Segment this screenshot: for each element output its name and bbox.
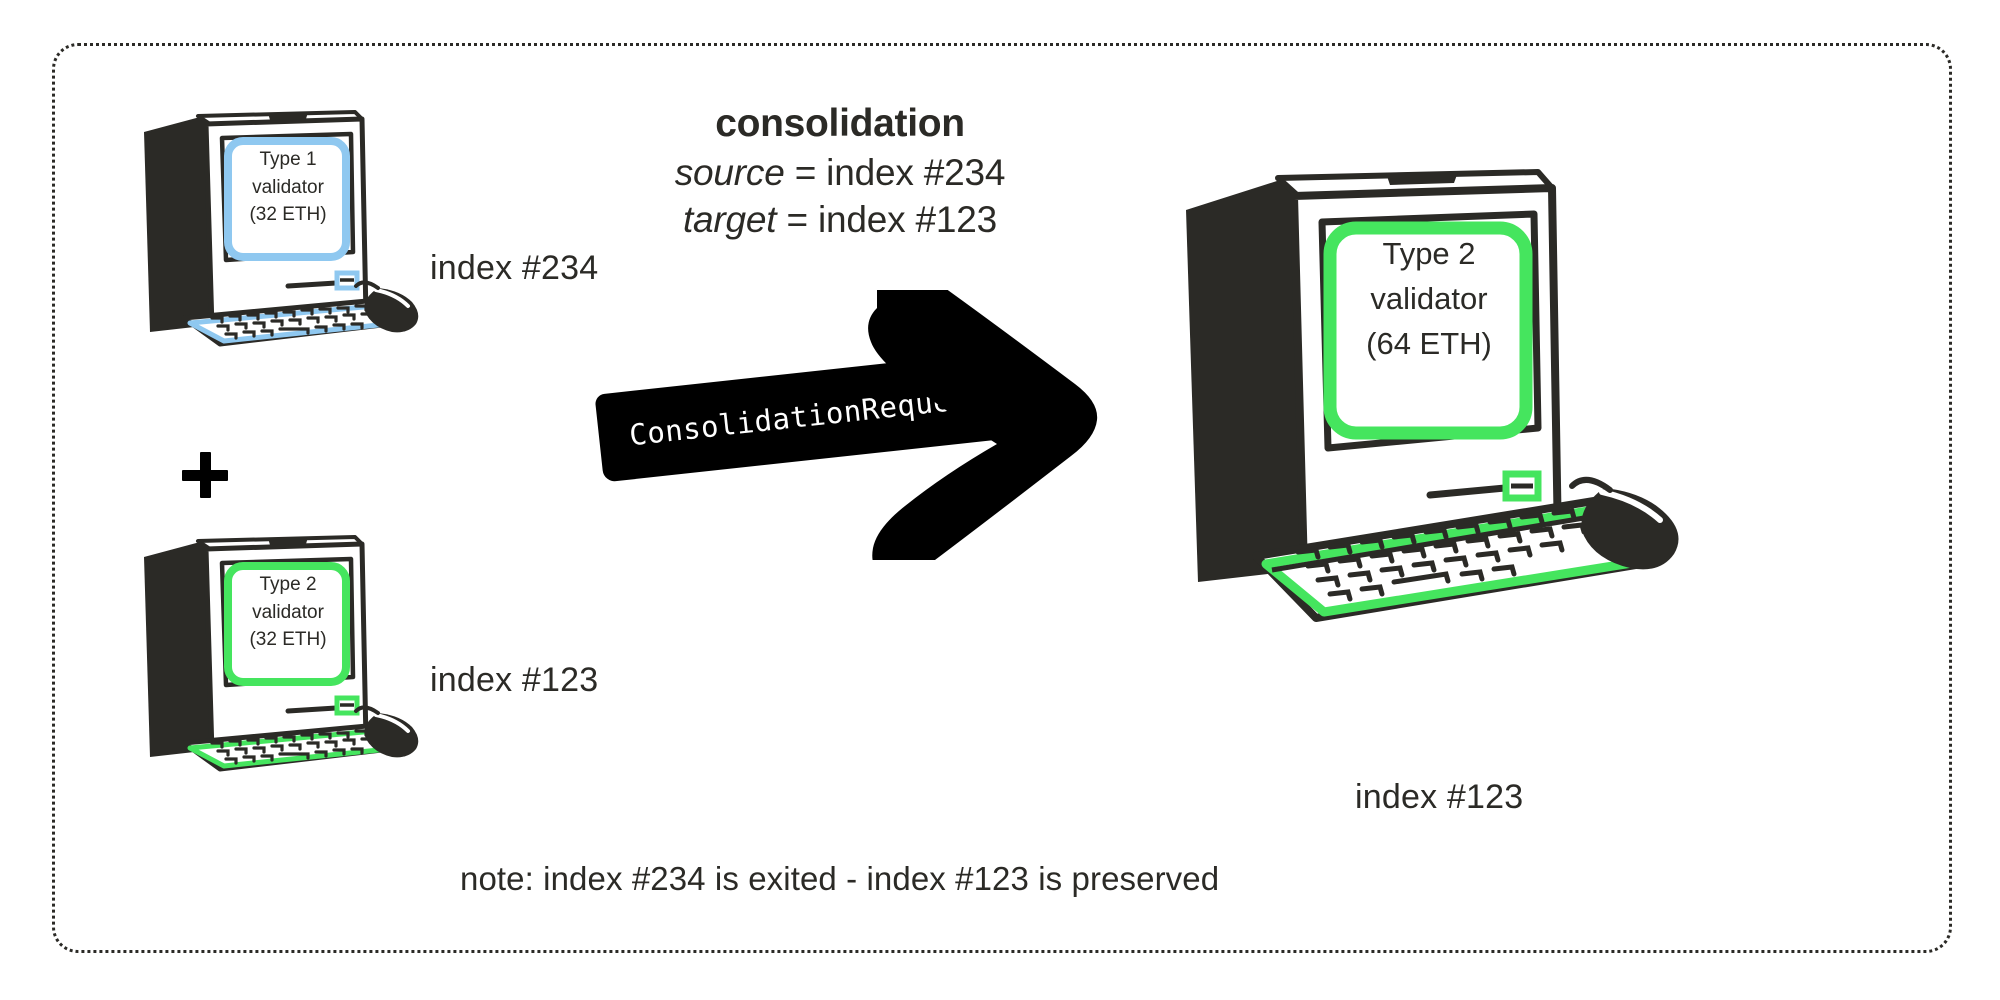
plus-icon: [182, 452, 228, 498]
screen-line-2: validator: [227, 599, 349, 627]
screen-line-3: (32 ETH): [227, 201, 349, 229]
source-value: = index #234: [785, 152, 1006, 193]
consolidation-arrow-icon: [855, 290, 1145, 560]
arrow-shape: [855, 290, 1145, 560]
screen-label: Type 2 validator (64 ETH): [1332, 232, 1526, 367]
screen-label: Type 1 validator (32 ETH): [227, 146, 349, 229]
screen-label: Type 2 validator (32 ETH): [227, 571, 349, 654]
screen-line-1: Type 1: [227, 146, 349, 174]
screen-line-3: (64 ETH): [1332, 322, 1526, 367]
consolidation-heading: consolidation: [630, 100, 1050, 149]
computer-target-validator: Type 2 validator (32 ETH): [140, 535, 470, 765]
screen-line-2: validator: [1332, 277, 1526, 322]
note-label: note: index #234 is exited - index #123 …: [460, 860, 1219, 899]
screen-line-2: validator: [227, 174, 349, 202]
diagram-canvas: consolidation source = index #234 target…: [0, 0, 2000, 1000]
computer-source-validator: Type 1 validator (32 ETH): [140, 110, 470, 340]
index-label-result: index #123: [1355, 777, 1523, 817]
screen-line-1: Type 2: [1332, 232, 1526, 277]
consolidation-text-block: consolidation source = index #234 target…: [630, 100, 1050, 243]
index-label-target: index #123: [430, 660, 598, 700]
screen-line-3: (32 ETH): [227, 626, 349, 654]
target-line: target = index #123: [630, 196, 1050, 243]
target-keyword: target: [683, 199, 776, 240]
source-line: source = index #234: [630, 149, 1050, 196]
screen-line-1: Type 2: [227, 571, 349, 599]
target-value: = index #123: [776, 199, 997, 240]
index-label-source: index #234: [430, 248, 598, 288]
computer-result-validator: Type 2 validator (64 ETH): [1180, 170, 1740, 640]
source-keyword: source: [675, 152, 785, 193]
